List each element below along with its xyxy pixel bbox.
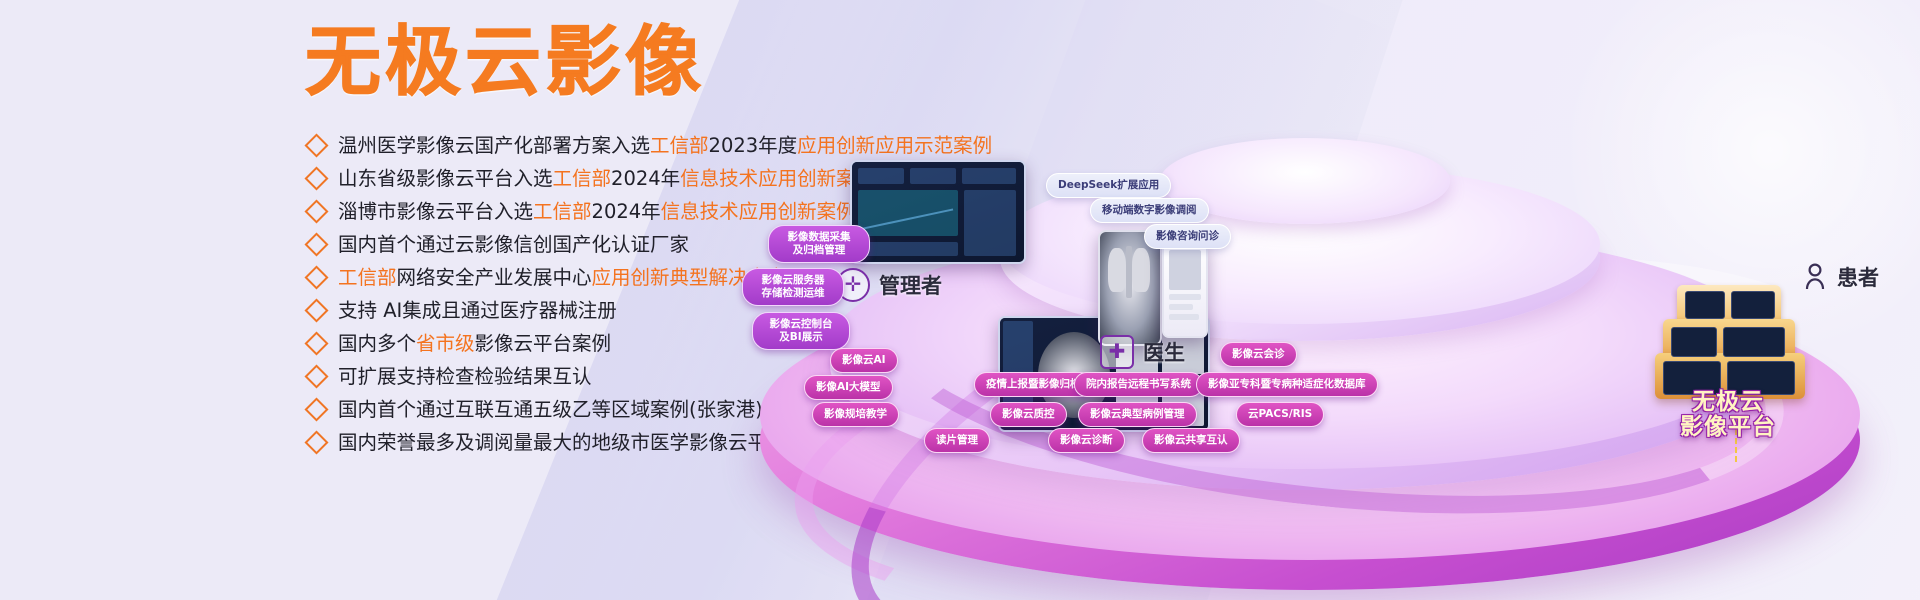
mobile-phone-device (1162, 240, 1208, 338)
plain-text: 淄博市影像云平台入选 (338, 200, 533, 223)
pill-image-ai-large-model[interactable]: 影像AI大模型 (804, 375, 893, 400)
tower-screen-4 (1723, 327, 1785, 357)
plain-text: 2024年 (611, 167, 680, 190)
plain-text: 影像云平台案例 (475, 332, 612, 355)
person-icon (1802, 262, 1828, 292)
pill-image-cloud-ai[interactable]: 影像云AI (830, 348, 898, 373)
plain-text: 支持 AI集成且通过医疗器械注册 (338, 299, 617, 322)
feature-bullet-text: 支持 AI集成且通过医疗器械注册 (338, 301, 617, 321)
pill-image-cloud-diagnosis[interactable]: 影像云诊断 (1048, 428, 1125, 453)
diamond-bullet-icon (304, 298, 328, 322)
highlighted-text: 工信部 (338, 266, 397, 289)
pill-image-cloud-sharing[interactable]: 影像云共享互认 (1142, 428, 1240, 453)
pill-mobile-image-access[interactable]: 移动端数字影像调阅 (1090, 198, 1209, 223)
plain-text: 可扩展支持检查检验结果互认 (338, 365, 592, 388)
center-logo-line-2: 影像平台 (1668, 415, 1788, 440)
page-title: 无极云影像 (305, 24, 705, 100)
diamond-bullet-icon (304, 166, 328, 190)
pill-inhospital-remote-report[interactable]: 院内报告远程书写系统 (1074, 372, 1203, 397)
plain-text: 温州医学影像云国产化部署方案入选 (338, 134, 650, 157)
pill-image-cloud-server[interactable]: 影像云服务器 存储检测运维 (742, 268, 844, 306)
pill-image-consultation[interactable]: 影像咨询问诊 (1144, 224, 1231, 249)
highlighted-text: 省市级 (416, 332, 475, 355)
feature-bullet-text: 国内多个省市级影像云平台案例 (338, 334, 611, 354)
tower-screen-2 (1731, 291, 1775, 319)
diamond-bullet-icon (304, 430, 328, 454)
pill-cloud-pacs-ris[interactable]: 云PACS/RIS (1236, 402, 1324, 427)
highlighted-text: 工信部 (553, 167, 612, 190)
plain-text: 国内首个通过互联互通五级乙等区域案例(张家港) (338, 398, 763, 421)
feature-bullet-text: 可扩展支持检查检验结果互认 (338, 367, 592, 387)
medical-record-icon: ✚ (1100, 335, 1134, 369)
diamond-bullet-icon (304, 133, 328, 157)
pill-image-data-collection[interactable]: 影像数据采集 及归档管理 (768, 225, 870, 263)
tower-screen-1 (1685, 291, 1725, 319)
role-label-doctor: 医生 (1143, 337, 1185, 367)
pill-subspecialty-database[interactable]: 影像亚专科暨专病种适症化数据库 (1196, 372, 1378, 397)
pill-image-cloud-qc[interactable]: 影像云质控 (990, 402, 1067, 427)
pill-image-cloud-console[interactable]: 影像云控制台 及BI展示 (752, 312, 850, 350)
diamond-bullet-icon (304, 331, 328, 355)
role-label-manager: 管理者 (879, 270, 942, 300)
plain-text: 国内首个通过云影像信创国产化认证厂家 (338, 233, 689, 256)
plain-text: 网络安全产业发展中心 (397, 266, 592, 289)
feature-bullet-text: 国内首个通过云影像信创国产化认证厂家 (338, 235, 689, 255)
plain-text: 山东省级影像云平台入选 (338, 167, 553, 190)
center-platform-logo: 无极云 影像平台 (1668, 390, 1788, 441)
role-doctor[interactable]: ✚ 医生 (1100, 335, 1185, 369)
highlighted-text: 工信部 (533, 200, 592, 223)
pill-image-training-teaching[interactable]: 影像规培教学 (812, 402, 899, 427)
feature-bullet-text: 国内首个通过互联互通五级乙等区域案例(张家港) (338, 400, 763, 420)
tower-screen-3 (1671, 327, 1717, 357)
diamond-bullet-icon (304, 232, 328, 256)
pill-image-cloud-consultation[interactable]: 影像云会诊 (1220, 342, 1297, 367)
plain-text: 2024年 (592, 200, 661, 223)
banner-stage: 无极云影像 温州医学影像云国产化部署方案入选工信部2023年度应用创新应用示范案… (0, 0, 1920, 600)
pill-typical-case-management[interactable]: 影像云典型病例管理 (1078, 402, 1197, 427)
diamond-bullet-icon (304, 199, 328, 223)
diamond-bullet-icon (304, 364, 328, 388)
diamond-bullet-icon (304, 265, 328, 289)
pill-reading-management[interactable]: 读片管理 (924, 428, 990, 453)
plain-text: 国内多个 (338, 332, 416, 355)
dashboard-screen-device (850, 160, 1026, 264)
center-logo-line-1: 无极云 (1668, 390, 1788, 415)
role-label-patient: 患者 (1837, 262, 1879, 292)
pill-deepseek-extension[interactable]: DeepSeek扩展应用 (1046, 173, 1171, 198)
platform-architecture-diagram: 无极云 影像平台 (700, 120, 1920, 600)
diamond-bullet-icon (304, 397, 328, 421)
role-manager[interactable]: ✛ 管理者 (836, 268, 942, 302)
role-patient[interactable]: 患者 (1802, 262, 1879, 292)
